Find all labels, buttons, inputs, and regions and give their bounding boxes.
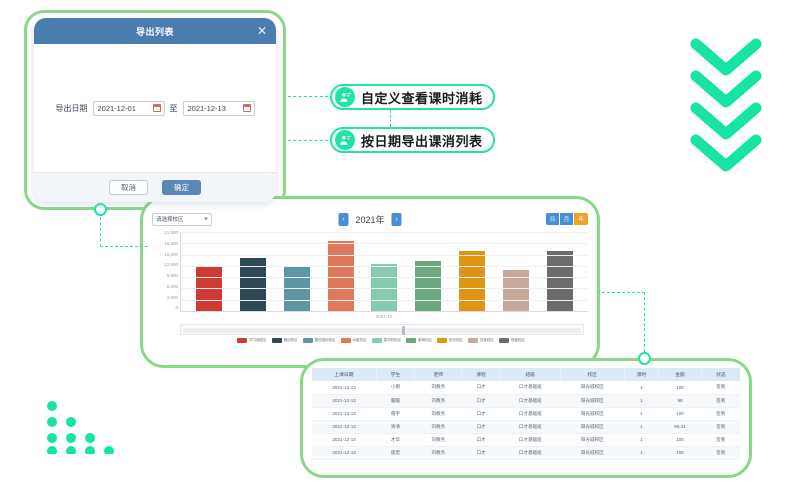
gridline	[181, 277, 588, 278]
export-date-label: 导出日期	[56, 103, 88, 114]
legend-item[interactable]: 恒盛校区	[499, 338, 525, 343]
table-row[interactable]: 2021-12-13暖暖刘教务口才口才基础班阳光城校区198签到	[312, 394, 740, 407]
callout-pill-export-by-date: 按日期导出课消列表	[330, 127, 495, 153]
legend-swatch	[499, 338, 509, 343]
calendar-icon[interactable]	[153, 104, 161, 112]
campus-select-value: 请选择校区	[156, 215, 184, 223]
legend-label: 阳光校区	[449, 338, 463, 343]
scrollbar-handle[interactable]	[402, 326, 405, 335]
dialog-title-bar: 导出列表 ✕	[34, 18, 276, 44]
table-cell: 100	[659, 433, 702, 446]
chart-plot-wrapper: 21,00018,00015,00012,0009,0006,0003,0000…	[152, 232, 588, 324]
y-axis-tick: 3,000	[167, 296, 178, 301]
table-cell: 口才	[462, 394, 501, 407]
table-row[interactable]: 2021-12-13小雨刘教务口才口才基础班阳光城校区1100签到	[312, 381, 740, 394]
connector-chart-to-table	[644, 292, 645, 352]
person-check-icon	[335, 87, 355, 107]
legend-item[interactable]: 紫荆校区	[406, 338, 432, 343]
callout-connector-bottom	[288, 140, 328, 141]
y-axis-tick: 21,000	[164, 231, 178, 236]
table-column-header[interactable]: 班级	[500, 368, 560, 381]
dialog-footer: 取消 确定	[34, 172, 276, 202]
legend-label: 嘉华府校区	[384, 338, 401, 343]
table-cell: 阳光城校区	[560, 381, 624, 394]
screenshot-root: 导出列表 ✕ 导出日期 2021-12-01 至 2021-12-13 取消 确…	[0, 0, 800, 500]
x-axis-label: 2021-12	[180, 314, 588, 319]
period-toggle-month[interactable]: 月	[560, 213, 574, 225]
table-cell: 口才基础班	[500, 433, 560, 446]
table-cell: 1	[624, 420, 658, 433]
table-cell: 刘教务	[415, 433, 462, 446]
chart-plot-area	[180, 232, 588, 312]
table-column-header[interactable]: 课程	[462, 368, 501, 381]
legend-label: 水星校区	[353, 338, 367, 343]
date-to-input[interactable]: 2021-12-13	[183, 101, 255, 116]
date-range-separator: 至	[170, 103, 178, 114]
legend-item[interactable]: 阳光校区	[437, 338, 463, 343]
year-navigator: ‹ 2021年 ›	[338, 213, 401, 226]
chevron-decoration-group	[686, 36, 766, 180]
table-column-header[interactable]: 状态	[701, 368, 740, 381]
table-cell: 1	[624, 394, 658, 407]
bar[interactable]	[547, 251, 573, 311]
table-cell: 刘教务	[415, 394, 462, 407]
table-cell: 口才	[462, 407, 501, 420]
table-cell: 1	[624, 381, 658, 394]
table-cell: 66.41	[659, 420, 702, 433]
dot-grid-decoration	[44, 398, 122, 454]
connector-dialog-to-chart	[100, 217, 101, 247]
connector-chart-to-table-horizontal	[597, 292, 645, 293]
table-column-header[interactable]: 老师	[415, 368, 462, 381]
y-axis-tick: 6,000	[167, 285, 178, 290]
gridline	[181, 232, 588, 233]
export-list-dialog: 导出列表 ✕ 导出日期 2021-12-01 至 2021-12-13 取消 确…	[34, 18, 276, 202]
table-cell: 清清	[376, 420, 415, 433]
period-toggle-day[interactable]: 日	[546, 213, 560, 225]
callout-text: 按日期导出课消列表	[361, 131, 483, 150]
legend-swatch	[341, 338, 351, 343]
chart-range-scrollbar[interactable]	[180, 324, 584, 335]
table-body: 2021-12-13小雨刘教务口才口才基础班阳光城校区1100签到2021-12…	[312, 381, 740, 459]
y-axis-tick: 0	[175, 306, 178, 311]
table-cell: 口才基础班	[500, 420, 560, 433]
table-column-header[interactable]: 上课日期	[312, 368, 376, 381]
table-cell: 签到	[701, 446, 740, 459]
legend-label: 学习城校区	[249, 338, 266, 343]
date-from-input[interactable]: 2021-12-01	[93, 101, 165, 116]
table-cell: 口才基础班	[500, 381, 560, 394]
gridline	[181, 266, 588, 267]
table-cell: 2021-12-13	[312, 394, 376, 407]
dialog-body: 导出日期 2021-12-01 至 2021-12-13	[34, 44, 276, 172]
table-cell: 2021-12-13	[312, 407, 376, 420]
confirm-button[interactable]: 确定	[162, 180, 201, 196]
table-cell: 暖暖	[376, 394, 415, 407]
chevron-left-icon[interactable]: ‹	[338, 213, 348, 226]
connector-dialog-to-chart-horizontal	[100, 246, 148, 247]
legend-label: 恒盛校区	[511, 338, 525, 343]
gridline	[181, 300, 588, 301]
dialog-title: 导出列表	[136, 25, 174, 38]
date-from-value: 2021-12-01	[98, 104, 136, 113]
gridline	[181, 288, 588, 289]
legend-swatch	[237, 338, 247, 343]
table-cell: 萌宇	[376, 407, 415, 420]
legend-item[interactable]: 融创校区	[272, 338, 298, 343]
callout-text: 自定义查看课时消耗	[361, 88, 483, 107]
table-cell: 俊宏	[376, 446, 415, 459]
legend-swatch	[372, 338, 382, 343]
legend-label: 融创校区	[284, 338, 298, 343]
table-cell: 阳光城校区	[560, 433, 624, 446]
y-axis-tick: 15,000	[164, 253, 178, 258]
anchor-dot-dialog	[94, 203, 107, 216]
table-cell: 1	[624, 407, 658, 420]
table-cell: 阳光城校区	[560, 420, 624, 433]
table-cell: 才华	[376, 433, 415, 446]
table-cell: 刘教务	[415, 446, 462, 459]
campus-select[interactable]: 请选择校区	[152, 213, 212, 226]
table-cell: 口才	[462, 381, 501, 394]
table-cell: 口才	[462, 446, 501, 459]
table-cell: 签到	[701, 381, 740, 394]
bar[interactable]	[415, 261, 441, 311]
table-cell: 口才	[462, 433, 501, 446]
chevron-right-icon[interactable]: ›	[392, 213, 402, 226]
table-cell: 签到	[701, 420, 740, 433]
callout-connector-top	[288, 96, 328, 97]
table-cell: 1	[624, 433, 658, 446]
table-cell: 小雨	[376, 381, 415, 394]
export-date-row: 导出日期 2021-12-01 至 2021-12-13	[56, 101, 255, 116]
calendar-icon[interactable]	[243, 104, 251, 112]
table-cell: 2021-12-13	[312, 420, 376, 433]
callout-pill-custom-view: 自定义查看课时消耗	[330, 84, 495, 110]
gridline	[181, 255, 588, 256]
table-header-row: 上课日期学生老师课程班级校区课时金额状态	[312, 368, 740, 381]
course-consumption-chart-panel: 请选择校区 ‹ 2021年 › 日 月 年 21,00018,00015,000…	[152, 210, 588, 356]
legend-item[interactable]: 学习城校区	[237, 338, 266, 343]
table-cell: 100	[659, 407, 702, 420]
y-axis-ticks: 21,00018,00015,00012,0009,0006,0003,0000	[152, 232, 178, 312]
table-row[interactable]: 2021-12-13俊宏刘教务口才口才基础班阳光城校区1100签到	[312, 446, 740, 459]
y-axis-tick: 18,000	[164, 242, 178, 247]
table-cell: 阳光城校区	[560, 446, 624, 459]
table-cell: 2021-12-13	[312, 433, 376, 446]
table-cell: 100	[659, 381, 702, 394]
course-consumption-table: 上课日期学生老师课程班级校区课时金额状态 2021-12-13小雨刘教务口才口才…	[312, 368, 740, 460]
table-cell: 刘教务	[415, 381, 462, 394]
legend-item[interactable]: 建设国际校区	[303, 338, 336, 343]
table-row[interactable]: 2021-12-13清清刘教务口才口才基础班阳光城校区166.41签到	[312, 420, 740, 433]
bar[interactable]	[503, 270, 529, 311]
table-cell: 阳光城校区	[560, 407, 624, 420]
legend-swatch	[468, 338, 478, 343]
period-toggle-year[interactable]: 年	[574, 213, 588, 225]
period-toggle-group: 日 月 年	[546, 213, 588, 225]
date-to-value: 2021-12-13	[188, 104, 226, 113]
legend-label: 凯旋校区	[480, 338, 494, 343]
person-check-icon	[335, 130, 355, 150]
chevron-down-icon	[204, 218, 208, 221]
legend-item[interactable]: 嘉华府校区	[372, 338, 401, 343]
table-row[interactable]: 2021-12-13萌宇刘教务口才口才基础班阳光城校区1100签到	[312, 407, 740, 420]
chart-legend: 学习城校区融创校区建设国际校区水星校区嘉华府校区紫荆校区阳光校区凯旋校区恒盛校区	[174, 338, 588, 343]
table-column-header[interactable]: 学生	[376, 368, 415, 381]
y-axis-tick: 12,000	[164, 263, 178, 268]
year-label: 2021年	[355, 213, 384, 226]
table-cell: 2021-12-13	[312, 381, 376, 394]
legend-item[interactable]: 凯旋校区	[468, 338, 494, 343]
table-cell: 口才基础班	[500, 394, 560, 407]
table-cell: 口才	[462, 420, 501, 433]
scrollbar-track	[183, 328, 581, 333]
table-column-header[interactable]: 课时	[624, 368, 658, 381]
legend-label: 建设国际校区	[315, 338, 336, 343]
legend-label: 紫荆校区	[418, 338, 432, 343]
close-icon[interactable]: ✕	[257, 25, 267, 37]
table-cell: 签到	[701, 394, 740, 407]
course-consumption-table-panel: 上课日期学生老师课程班级校区课时金额状态 2021-12-13小雨刘教务口才口才…	[312, 368, 740, 468]
legend-swatch	[272, 338, 282, 343]
legend-swatch	[437, 338, 447, 343]
table-cell: 100	[659, 446, 702, 459]
table-cell: 2021-12-13	[312, 446, 376, 459]
legend-swatch	[303, 338, 313, 343]
callout-connector-vertical	[390, 110, 391, 127]
gridline	[181, 243, 588, 244]
table-cell: 签到	[701, 407, 740, 420]
table-cell: 1	[624, 446, 658, 459]
table-column-header[interactable]: 校区	[560, 368, 624, 381]
table-cell: 口才基础班	[500, 407, 560, 420]
bar[interactable]	[459, 251, 485, 311]
cancel-button[interactable]: 取消	[109, 180, 148, 196]
table-cell: 98	[659, 394, 702, 407]
table-cell: 刘教务	[415, 420, 462, 433]
legend-swatch	[406, 338, 416, 343]
table-row[interactable]: 2021-12-13才华刘教务口才口才基础班阳光城校区1100签到	[312, 433, 740, 446]
legend-item[interactable]: 水星校区	[341, 338, 367, 343]
table-cell: 签到	[701, 433, 740, 446]
table-cell: 刘教务	[415, 407, 462, 420]
table-column-header[interactable]: 金额	[659, 368, 702, 381]
y-axis-tick: 9,000	[167, 274, 178, 279]
table-cell: 阳光城校区	[560, 394, 624, 407]
table-cell: 口才基础班	[500, 446, 560, 459]
anchor-dot-table	[638, 352, 651, 365]
chart-toolbar: 请选择校区 ‹ 2021年 › 日 月 年	[152, 210, 588, 228]
